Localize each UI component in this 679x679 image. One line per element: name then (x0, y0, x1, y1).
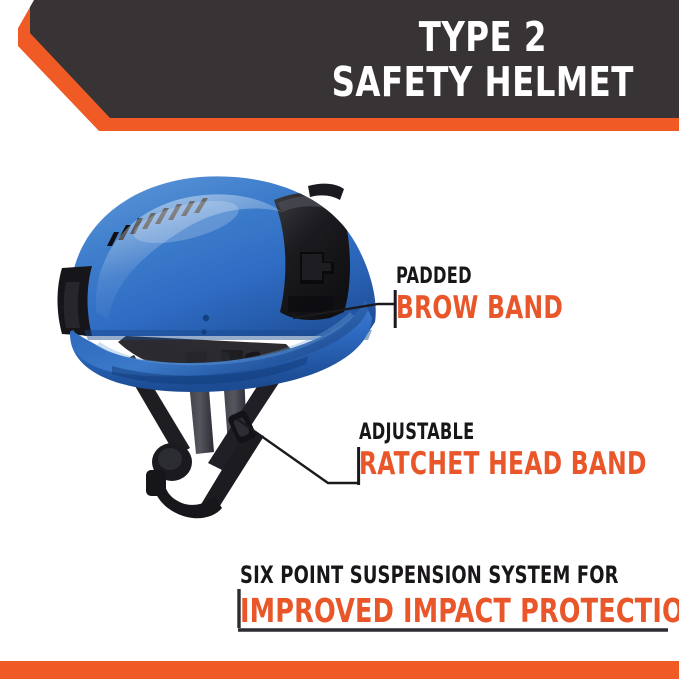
leader-line-ratchet (237, 419, 358, 483)
callout-brow-band-caption: PADDED (396, 264, 559, 289)
footer-feature-text: SIX POINT SUSPENSION SYSTEM FOR IMPROVED… (240, 561, 679, 630)
infographic-canvas: TYPE 2 SAFETY HELMET (0, 0, 679, 679)
callout-brow-band-highlight: BROW BAND (396, 290, 563, 326)
leader-line-brow-band (293, 304, 394, 318)
bottom-accent-bar (0, 661, 679, 679)
callout-ratchet-head-band: ADJUSTABLE RATCHET HEAD BAND (359, 420, 679, 482)
callout-brow-band: PADDED BROW BAND (396, 264, 595, 326)
callout-ratchet-head-band-highlight: RATCHET HEAD BAND (359, 446, 647, 482)
footer-caption: SIX POINT SUSPENSION SYSTEM FOR (240, 561, 679, 589)
callout-ratchet-head-band-caption: ADJUSTABLE (359, 420, 640, 445)
footer-highlight: IMPROVED IMPACT PROTECTION (240, 591, 679, 630)
